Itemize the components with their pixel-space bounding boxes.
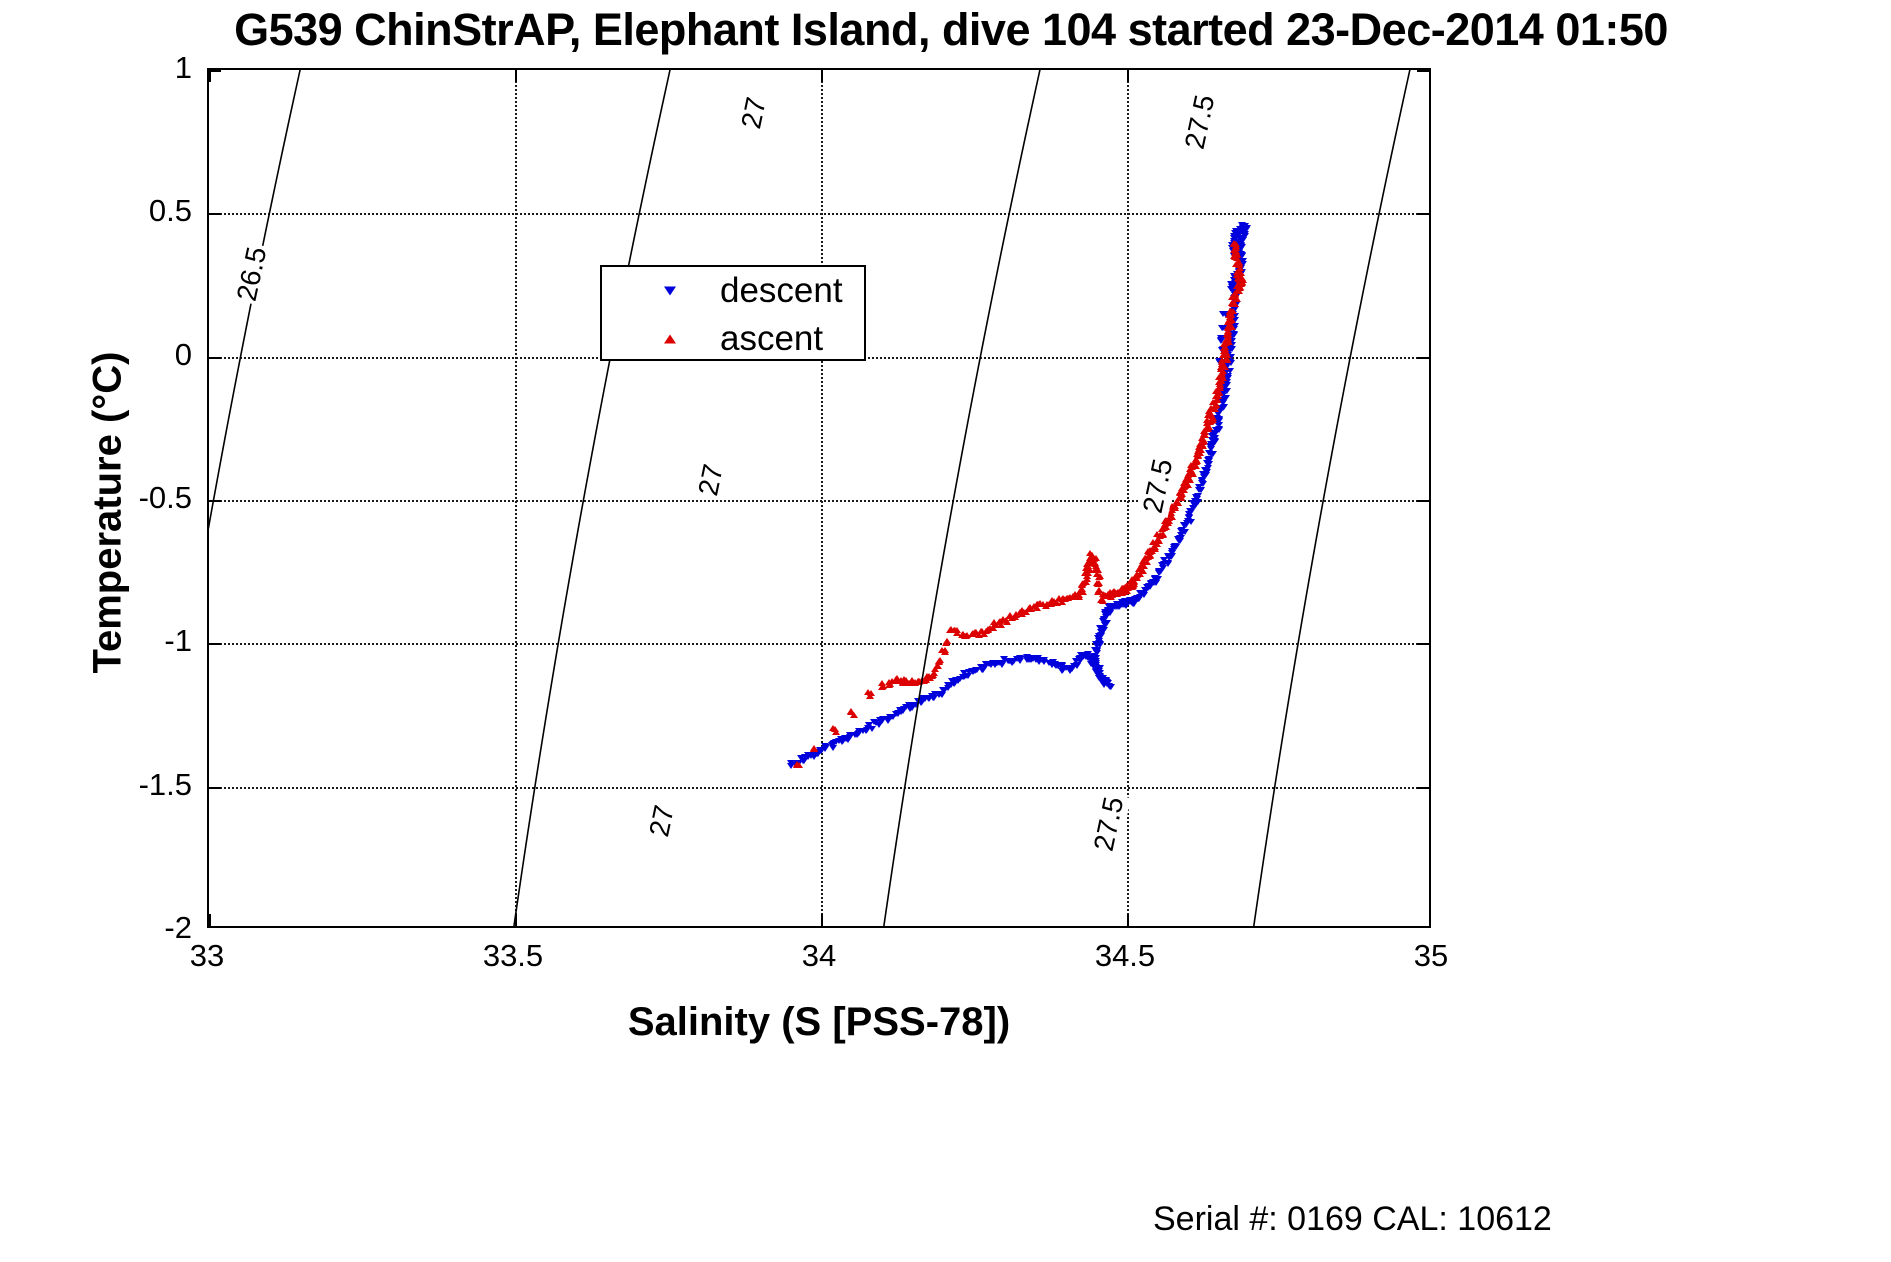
triangle-down-icon [664, 287, 676, 296]
isopycnal-line-27-5 [874, 68, 1059, 928]
plot-area: 26.527272727.527.527.5 descent ascent [207, 68, 1431, 928]
legend-item-descent[interactable]: descent [602, 267, 864, 315]
x-axis-label: Salinity (S [PSS-78]) [207, 1000, 1431, 1045]
isopycnal-contours [209, 70, 1429, 926]
x-tick-label: 34.5 [1095, 938, 1155, 974]
isopycnal-line-28 [1244, 68, 1429, 928]
page-title: G539 ChinStrAP, Elephant Island, dive 10… [0, 2, 1891, 58]
triangle-up-icon [664, 335, 676, 344]
legend-label-ascent: ascent [720, 319, 823, 359]
x-tick-label: 34 [802, 938, 836, 974]
legend-label-descent: descent [720, 271, 843, 311]
serial-annotation: Serial #: 0169 CAL: 10612 [1153, 1200, 1552, 1239]
isopycnal-line-26-5 [207, 68, 319, 928]
isopycnal-line-27 [504, 68, 689, 928]
y-tick-label: 1 [97, 50, 192, 86]
legend-item-ascent[interactable]: ascent [602, 315, 864, 363]
figure-canvas: G539 ChinStrAP, Elephant Island, dive 10… [0, 0, 1891, 1262]
y-axis-label: Temperature (°C) [86, 83, 131, 943]
x-tick-label: 33 [190, 938, 224, 974]
x-tick-label: 35 [1414, 938, 1448, 974]
x-tick-label: 33.5 [483, 938, 543, 974]
isopycnal-label: 27 [734, 92, 773, 133]
legend: descent ascent [600, 265, 866, 361]
